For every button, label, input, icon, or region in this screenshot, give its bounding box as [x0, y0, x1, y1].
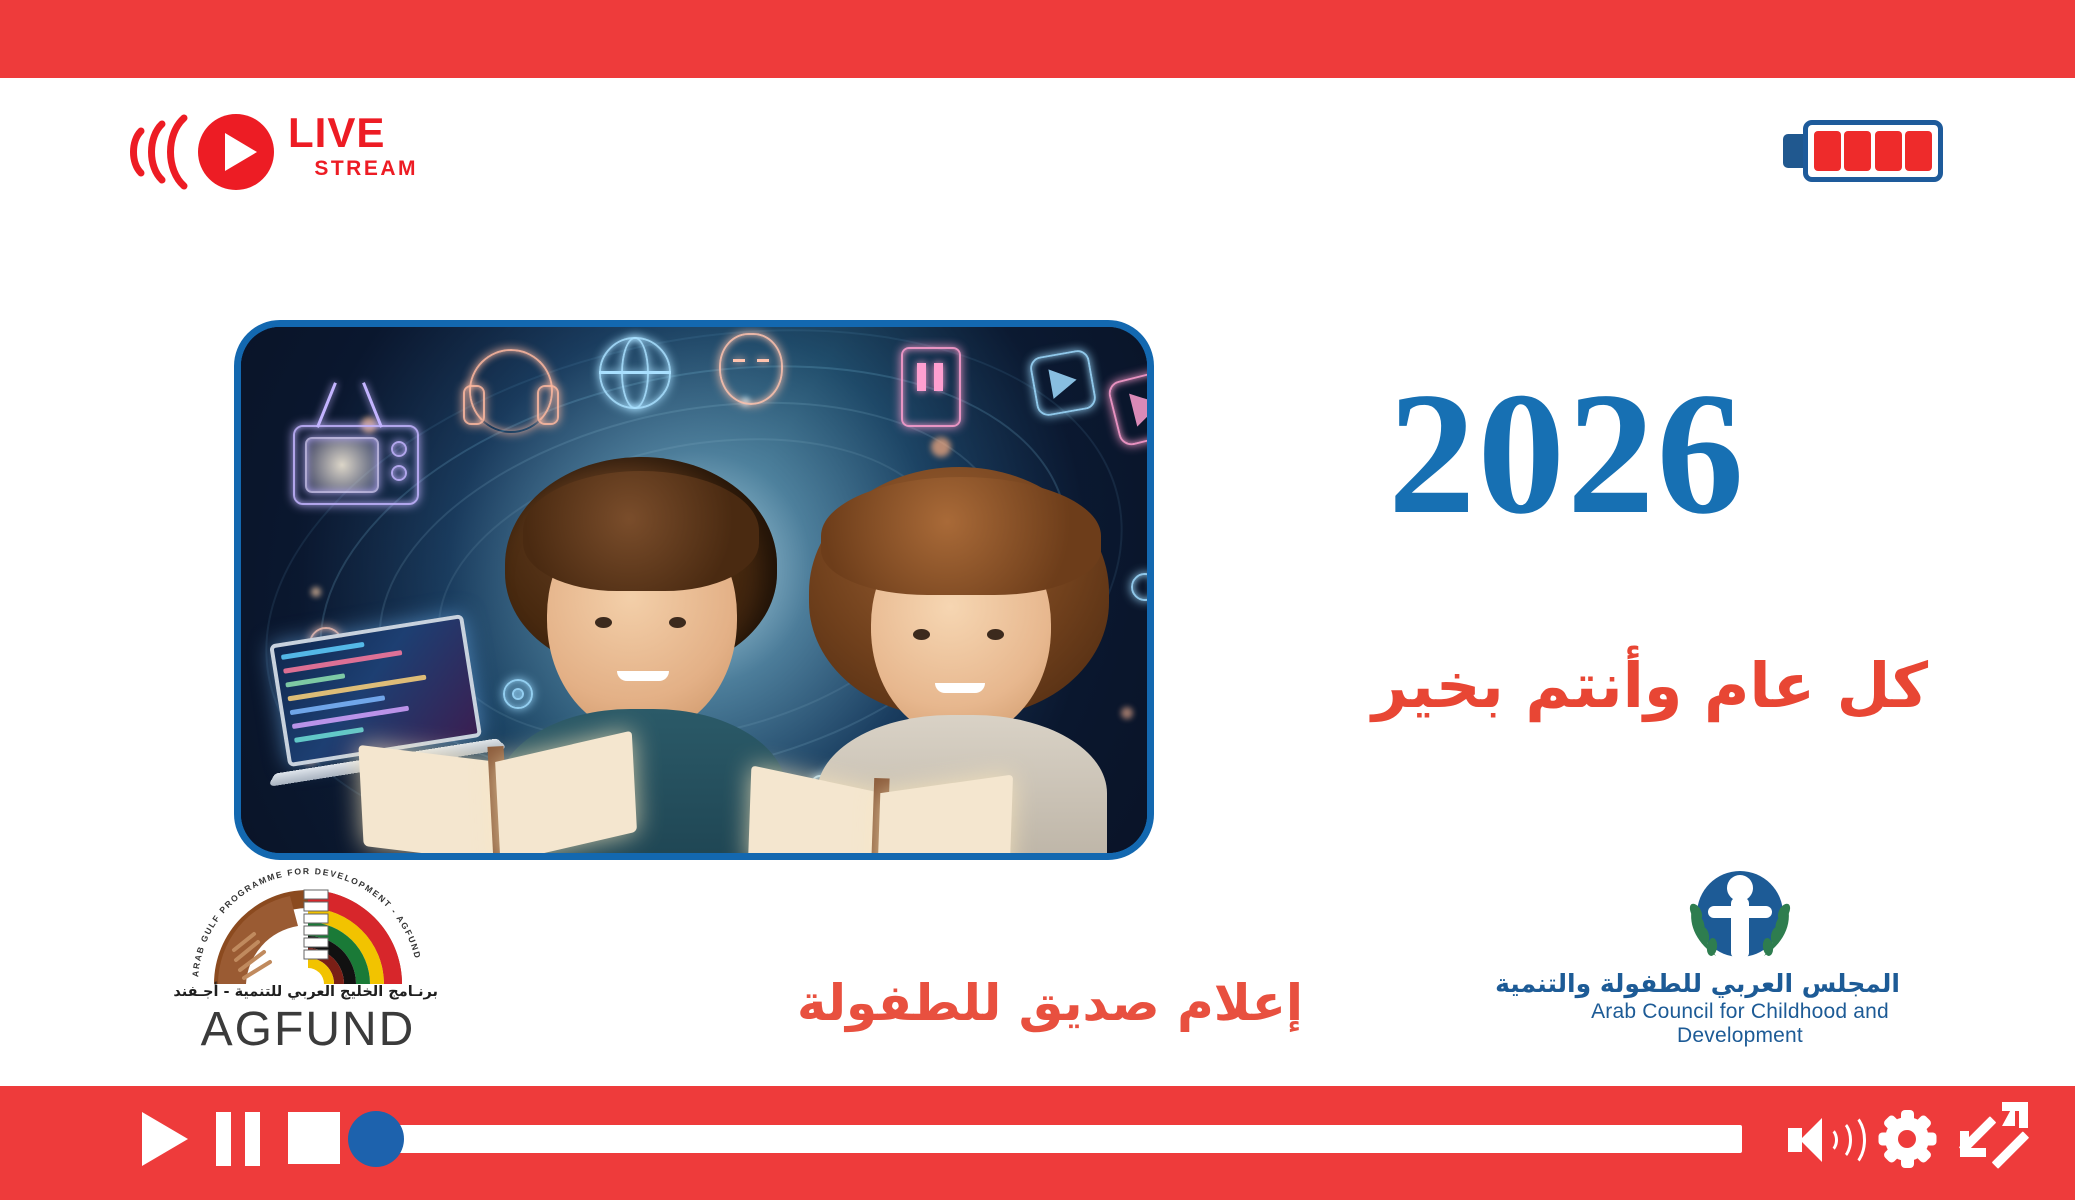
agfund-logo: ARAB GULF PROGRAMME FOR DEVELOPMENT - AG… — [178, 866, 438, 1044]
broadcast-waves-icon — [128, 112, 200, 192]
battery-cell — [1875, 131, 1902, 171]
live-label: LIVE — [288, 112, 418, 154]
agfund-wordmark: AGFUND — [178, 1006, 438, 1054]
accd-arabic-name: المجلس العربي للطفولة والتنمية — [1580, 968, 1900, 1000]
battery-cell — [1814, 131, 1841, 171]
battery-cell — [1905, 131, 1932, 171]
tv-icon — [293, 399, 419, 505]
headphones-icon — [463, 349, 559, 425]
battery-terminal — [1783, 134, 1805, 168]
live-stream-logo: LIVE STREAM — [128, 108, 368, 196]
slogan-text: إعلام صديق للطفولة — [760, 966, 1340, 1040]
accd-child-laurel-icon — [1580, 868, 1900, 968]
children-media-illustration — [241, 327, 1147, 853]
fullscreen-expand-icon[interactable] — [1958, 1102, 2030, 1174]
top-red-banner — [0, 0, 2075, 78]
accd-english-name: Arab Council for Childhood and Developme… — [1580, 1000, 1900, 1048]
stream-label: STREAM — [288, 157, 418, 181]
agfund-hand-arc-icon: ARAB GULF PROGRAMME FOR DEVELOPMENT - AG… — [178, 866, 438, 996]
video-thumbnail-frame[interactable] — [234, 320, 1154, 860]
theatre-mask-icon — [719, 333, 783, 405]
gear-icon[interactable] — [1878, 1110, 1936, 1168]
greeting-text: كل عام وأنتم بخير — [1330, 640, 1970, 732]
pause-icon[interactable] — [216, 1112, 262, 1166]
accd-logo: المجلس العربي للطفولة والتنمية Arab Coun… — [1580, 868, 1900, 1048]
globe-icon — [599, 337, 671, 409]
battery-cell — [1844, 131, 1871, 171]
play-icon[interactable] — [142, 1112, 188, 1166]
volume-high-icon[interactable] — [1788, 1114, 1850, 1166]
progress-bar[interactable] — [360, 1125, 1742, 1153]
live-play-circle-icon — [198, 114, 274, 190]
stop-icon[interactable] — [288, 1112, 340, 1164]
cloud-icon — [1131, 567, 1154, 601]
battery-body — [1803, 120, 1943, 182]
year-heading: 2026 — [1388, 366, 1808, 541]
play-button-icon — [1028, 348, 1098, 418]
play-triangle-icon — [225, 133, 257, 171]
agfund-arabic-name: برنـامج الخليج العربي للتنمية - أجـفند — [178, 984, 438, 1000]
progress-handle[interactable] — [348, 1111, 404, 1167]
tablet-icon — [901, 347, 961, 427]
battery-full-icon — [1783, 120, 1943, 182]
